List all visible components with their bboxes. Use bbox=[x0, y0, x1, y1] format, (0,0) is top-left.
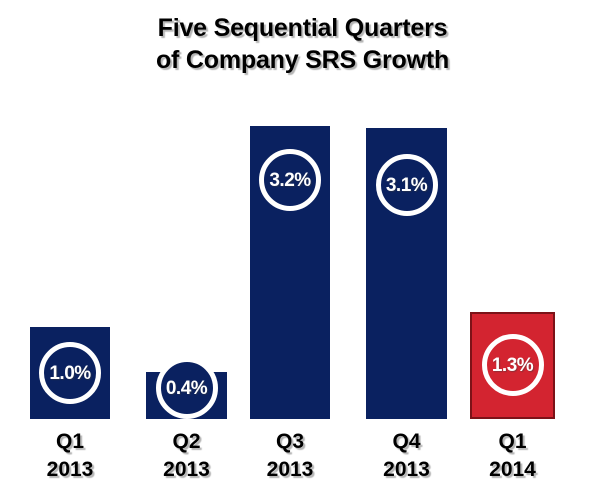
bar-group-q4-2013: 3.1% bbox=[366, 128, 447, 419]
axis-label-q2-2013: Q2 2013 bbox=[146, 428, 227, 484]
bar-group-q1-2014: 1.3% bbox=[470, 312, 555, 419]
axis-label-q4-2013: Q4 2013 bbox=[366, 428, 447, 484]
value-bubble-q2-2013: 0.4% bbox=[156, 357, 218, 419]
axis-label-q4-2013-quarter: Q4 bbox=[366, 428, 447, 456]
axis-label-q1-2013-quarter: Q1 bbox=[30, 428, 110, 456]
value-bubble-q3-2013: 3.2% bbox=[259, 149, 321, 211]
axis-label-q1-2013-year: 2013 bbox=[30, 456, 110, 484]
bar-group-q2-2013: 0.4% bbox=[146, 372, 227, 419]
bar-group-q3-2013: 3.2% bbox=[250, 126, 330, 419]
axis-label-q2-2013-quarter: Q2 bbox=[146, 428, 227, 456]
value-label-q1-2014: 1.3% bbox=[492, 356, 533, 375]
axis-label-q1-2014-year: 2014 bbox=[470, 456, 555, 484]
value-label-q1-2013: 1.0% bbox=[49, 364, 90, 383]
plot-area: 1.0% Q1 2013 0.4% Q2 2013 3.2% Q3 201 bbox=[0, 0, 605, 492]
axis-label-q3-2013-year: 2013 bbox=[250, 456, 330, 484]
chart-root: Five Sequential Quarters of Company SRS … bbox=[0, 0, 605, 492]
value-bubble-q1-2013: 1.0% bbox=[39, 342, 101, 404]
value-label-q2-2013: 0.4% bbox=[166, 379, 207, 398]
value-label-q4-2013: 3.1% bbox=[386, 176, 427, 195]
axis-label-q1-2014: Q1 2014 bbox=[470, 428, 555, 484]
bar-group-q1-2013: 1.0% bbox=[30, 327, 110, 419]
axis-label-q2-2013-year: 2013 bbox=[146, 456, 227, 484]
axis-label-q1-2013: Q1 2013 bbox=[30, 428, 110, 484]
value-bubble-q1-2014: 1.3% bbox=[482, 334, 544, 396]
axis-label-q3-2013: Q3 2013 bbox=[250, 428, 330, 484]
axis-label-q3-2013-quarter: Q3 bbox=[250, 428, 330, 456]
value-bubble-q4-2013: 3.1% bbox=[376, 154, 438, 216]
axis-label-q4-2013-year: 2013 bbox=[366, 456, 447, 484]
axis-label-q1-2014-quarter: Q1 bbox=[470, 428, 555, 456]
value-label-q3-2013: 3.2% bbox=[269, 171, 310, 190]
